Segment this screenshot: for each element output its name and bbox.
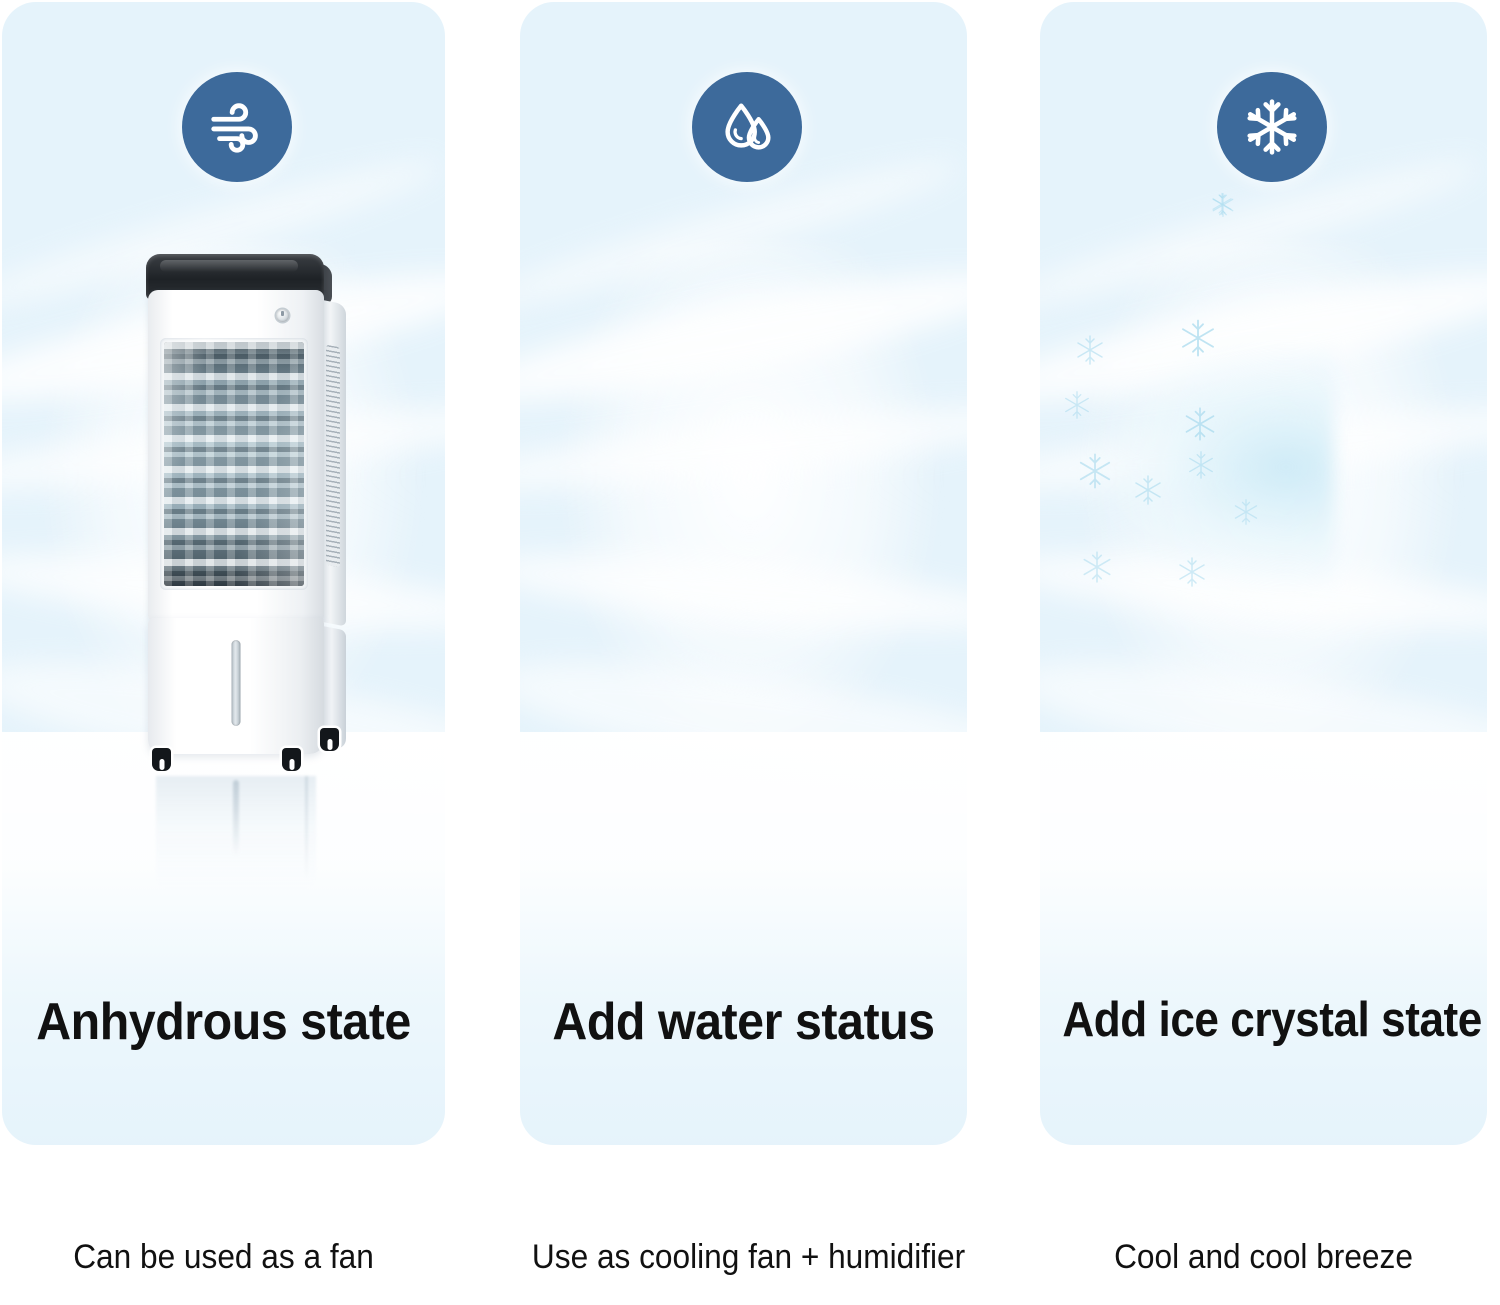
- panel-heading: Add water status: [536, 992, 952, 1052]
- snowflake-icon-badge: [1217, 72, 1327, 182]
- water-drop-icon-badge: [692, 72, 802, 182]
- cold-air-snowflake-plume: [1054, 302, 1314, 632]
- snowflake-icon: [1243, 98, 1301, 156]
- snowflake-icon: [1074, 334, 1106, 371]
- air-cooler-unit: [134, 254, 346, 784]
- panel-heading: Anhydrous state: [18, 992, 430, 1052]
- snowflake-icon: [1232, 498, 1260, 531]
- snowflake-icon: [1076, 452, 1114, 495]
- floor-reflection: [156, 776, 316, 888]
- caption-anhydrous: Can be used as a fan: [16, 1238, 432, 1277]
- panel-heading: Add ice crystal state: [1062, 992, 1464, 1048]
- water-level-window: [232, 640, 241, 726]
- power-knob-icon: [276, 309, 289, 322]
- badge-mini-snowflakes: [1210, 192, 1340, 242]
- caption-row: Can be used as a fan Use as cooling fan …: [0, 1150, 1500, 1305]
- caster-wheel: [152, 748, 171, 771]
- snowflake-icon: [1178, 318, 1218, 363]
- water-drop-icon: [716, 96, 778, 158]
- wind-icon-badge: [182, 72, 292, 182]
- water-tank: [148, 618, 324, 754]
- front-grille: [160, 338, 308, 590]
- panel-row: Anhydrous state: [0, 0, 1500, 1150]
- snowflake-icon: [1132, 474, 1164, 511]
- panel-add-water: Add water status: [520, 2, 967, 1145]
- wind-icon: [206, 96, 268, 158]
- snowflake-icon: [1182, 406, 1218, 447]
- snowflake-icon: [1080, 550, 1114, 589]
- snowflake-icon: [1176, 556, 1208, 593]
- caption-add-water: Use as cooling fan + humidifier: [532, 1238, 955, 1277]
- control-panel: [154, 304, 316, 330]
- infographic-canvas: Anhydrous state: [0, 0, 1500, 1305]
- caster-wheel: [320, 728, 339, 751]
- caster-wheel: [282, 748, 301, 771]
- panel-anhydrous: Anhydrous state: [2, 2, 445, 1145]
- panel-add-ice-crystal: Add ice crystal state: [1040, 2, 1487, 1145]
- snowflake-icon: [1186, 450, 1216, 485]
- snowflake-icon: [1062, 390, 1092, 425]
- caption-add-ice-crystal: Cool and cool breeze: [1052, 1238, 1475, 1277]
